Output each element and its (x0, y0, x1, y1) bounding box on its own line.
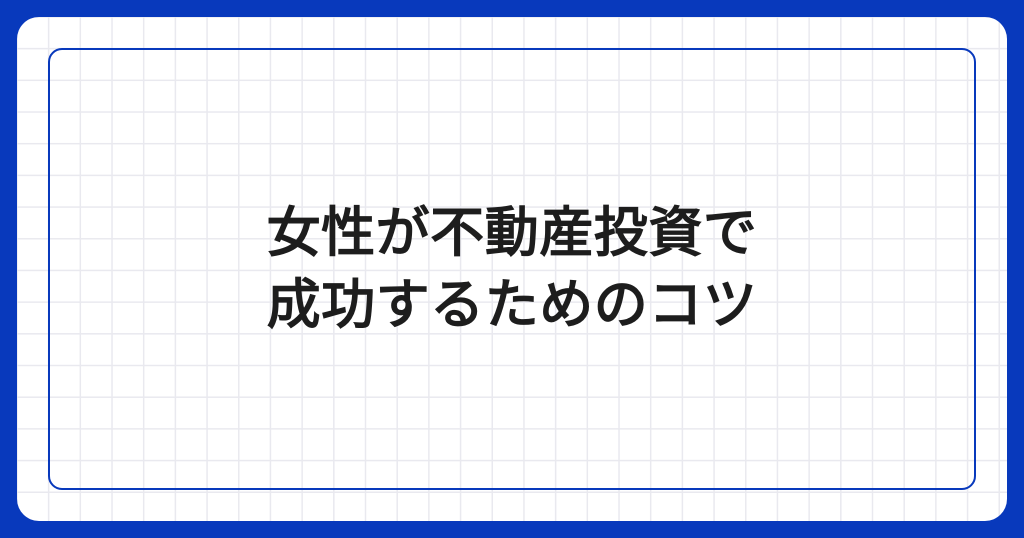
eyecatch-canvas: 女性が不動産投資で 成功するためのコツ (0, 0, 1024, 538)
title-line-2: 成功するためのコツ (267, 269, 758, 341)
white-grid-panel: 女性が不動産投資で 成功するためのコツ (17, 17, 1007, 521)
headline-container: 女性が不動産投資で 成功するためのコツ (48, 48, 976, 490)
title-line-1: 女性が不動産投資で (267, 197, 758, 269)
page-title: 女性が不動産投資で 成功するためのコツ (243, 197, 782, 341)
